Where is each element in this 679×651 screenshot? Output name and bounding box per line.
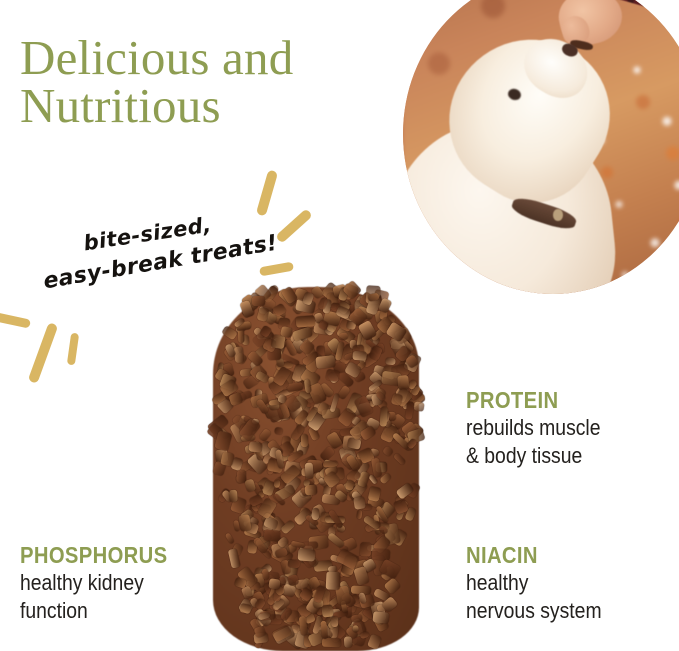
treat-piece <box>297 549 315 563</box>
treat-piece <box>220 451 235 466</box>
benefit-protein-desc-2: & body tissue <box>466 442 601 470</box>
treat-piece <box>326 572 341 590</box>
treat-piece <box>228 490 237 503</box>
photo-inner <box>403 0 679 294</box>
treat-piece <box>296 315 316 327</box>
dash-mark-6 <box>67 333 79 366</box>
benefit-niacin: NIACIN healthy nervous system <box>466 543 620 625</box>
treat-pile <box>205 283 430 651</box>
treat-piece <box>252 296 265 307</box>
treat-piece <box>413 401 424 412</box>
benefit-niacin-desc-1: healthy <box>466 569 602 597</box>
promo-graphic: Delicious and Nutritious bite-sized, eas… <box>0 0 679 651</box>
dog-collar-tag <box>553 209 563 221</box>
dash-mark-1 <box>256 170 278 217</box>
treat-piece <box>304 485 317 496</box>
headline-line-1: Delicious and <box>20 30 293 85</box>
treat-piece <box>385 357 396 365</box>
treat-piece <box>331 616 338 627</box>
dash-mark-5 <box>28 322 59 384</box>
treat-piece <box>354 497 367 510</box>
page-title: Delicious and Nutritious <box>20 34 410 130</box>
headline-line-2: Nutritious <box>20 82 410 130</box>
treat-piece <box>322 638 341 648</box>
dash-mark-3 <box>259 262 294 277</box>
benefit-phosphorus-desc-1: healthy kidney <box>20 569 167 597</box>
treat-piece <box>360 543 372 557</box>
treat-piece <box>305 463 314 480</box>
treat-piece <box>274 427 283 435</box>
benefit-protein: PROTEIN rebuilds muscle & body tissue <box>466 388 619 470</box>
treat-piece <box>311 508 318 520</box>
benefit-phosphorus: PHOSPHORUS healthy kidney function <box>20 543 188 625</box>
treat-piece <box>248 441 262 452</box>
benefit-niacin-desc-2: nervous system <box>466 597 602 625</box>
benefit-phosphorus-desc-2: function <box>20 597 167 625</box>
treat-piece <box>372 612 389 624</box>
benefit-protein-title: PROTEIN <box>466 388 601 414</box>
treat-piece <box>352 351 366 361</box>
dog-photo <box>403 0 679 294</box>
benefit-protein-desc-1: rebuilds muscle <box>466 414 601 442</box>
treat-piece <box>264 529 281 542</box>
treat-piece <box>344 637 352 648</box>
treat-piece <box>287 560 299 569</box>
treat-piece <box>301 434 308 447</box>
treat-piece <box>316 355 336 369</box>
dash-mark-4 <box>0 311 31 328</box>
treat-piece <box>304 379 312 393</box>
benefit-niacin-title: NIACIN <box>466 543 602 569</box>
dash-mark-2 <box>275 208 313 244</box>
treat-piece <box>269 578 282 589</box>
benefit-phosphorus-title: PHOSPHORUS <box>20 543 167 569</box>
treat-piece <box>280 325 293 337</box>
